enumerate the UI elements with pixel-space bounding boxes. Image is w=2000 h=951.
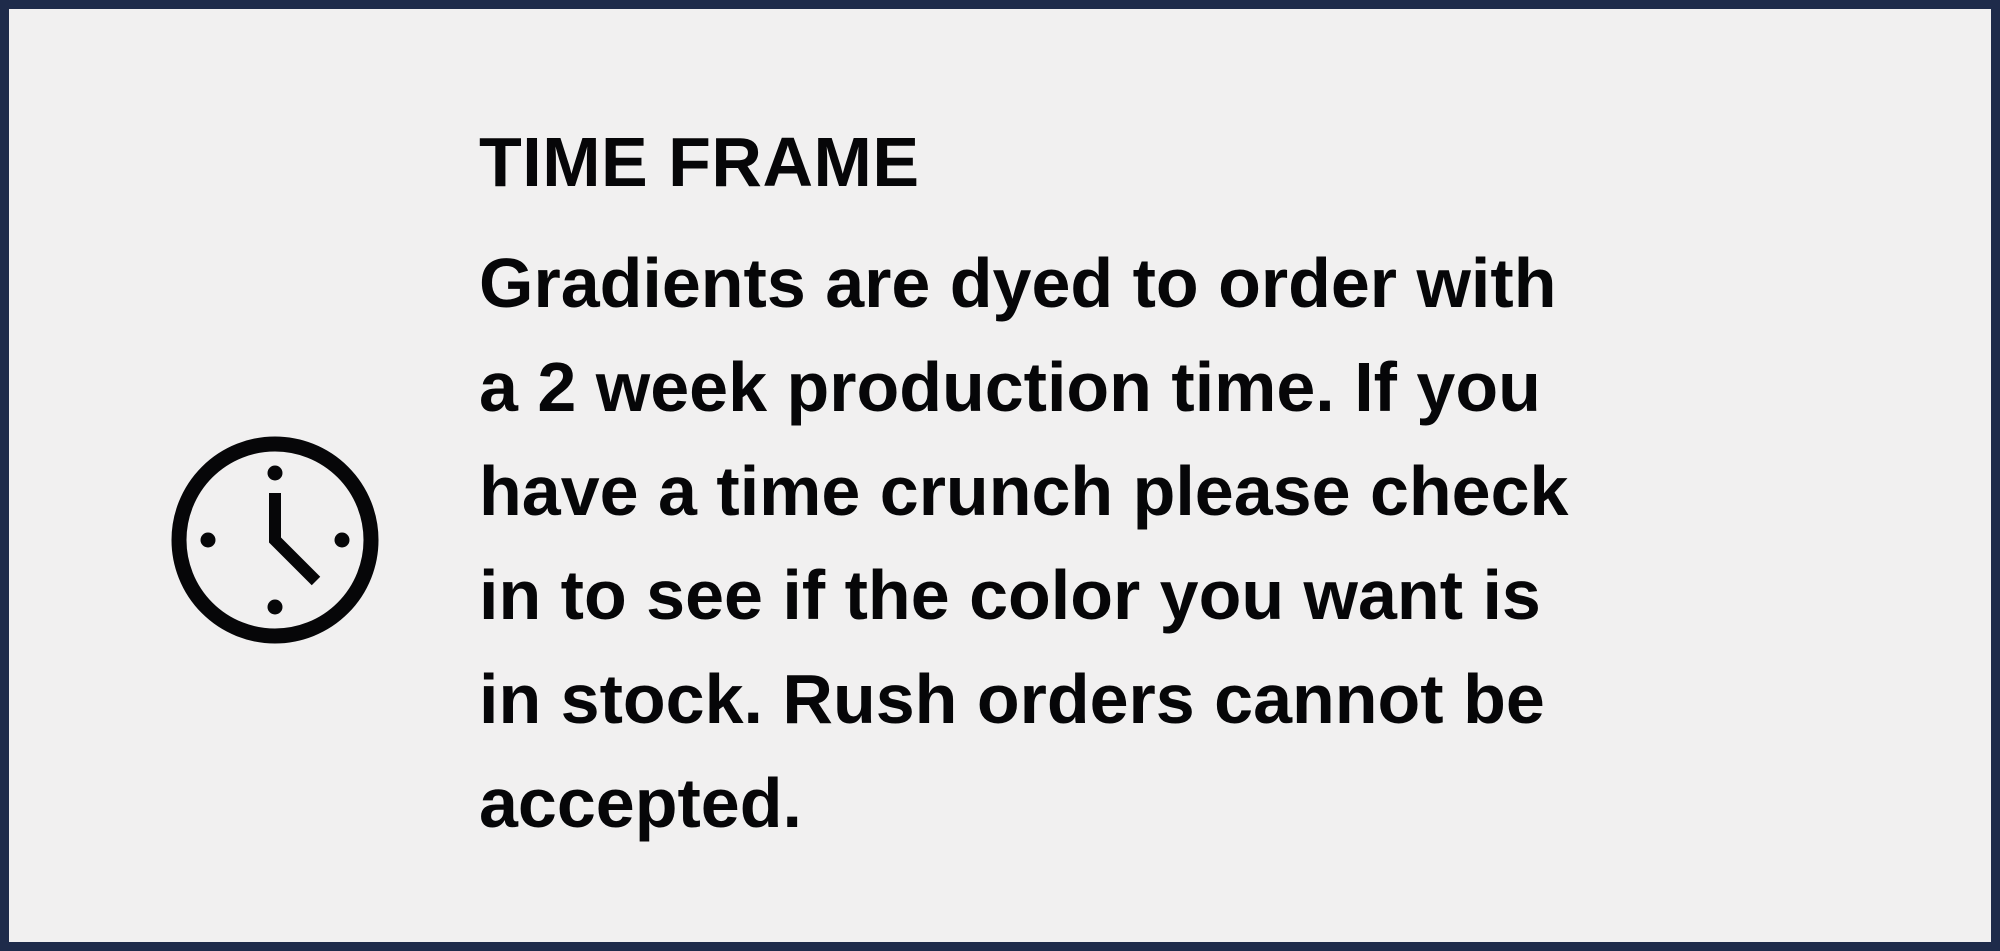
body-line: accepted. (479, 751, 1909, 855)
body-line: Gradients are dyed to order with (479, 231, 1909, 335)
body-line: a 2 week production time. If you (479, 335, 1909, 439)
body-line: in stock. Rush orders cannot be (479, 647, 1909, 751)
body-copy: Gradients are dyed to order with a 2 wee… (479, 231, 1909, 855)
icon-column (9, 9, 479, 942)
page-title: TIME FRAME (479, 127, 1991, 197)
text-column: TIME FRAME Gradients are dyed to order w… (479, 9, 1991, 942)
clock-icon (170, 435, 380, 645)
body-line: in to see if the color you want is (479, 543, 1909, 647)
time-frame-info-card: TIME FRAME Gradients are dyed to order w… (0, 0, 2000, 951)
body-line: have a time crunch please check (479, 439, 1909, 543)
